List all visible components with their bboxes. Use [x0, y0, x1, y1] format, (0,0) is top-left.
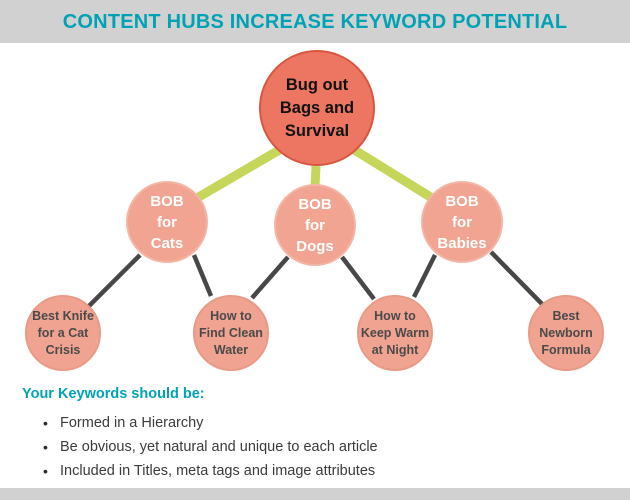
node-label-line: Cats	[151, 233, 184, 254]
notes-bullet-item: Be obvious, yet natural and unique to ea…	[60, 435, 378, 459]
node-label-line: Dogs	[296, 236, 334, 257]
node-root-root[interactable]: Bug outBags andSurvival	[259, 50, 375, 166]
node-article-how-to-keep-warm-at-night[interactable]: How toKeep Warmat Night	[357, 295, 433, 371]
connector-line-secondary	[89, 255, 140, 306]
notes-bullet-item: Formed in a Hierarchy	[60, 411, 378, 435]
node-hub-bob-cats[interactable]: BOBforCats	[126, 181, 208, 263]
connector-line-secondary	[252, 257, 288, 298]
node-label-line: for	[452, 212, 472, 233]
node-label-line: Newborn	[539, 325, 592, 342]
node-article-best-knife-cat-crisis[interactable]: Best Knifefor a CatCrisis	[25, 295, 101, 371]
notes-bullet-list: Formed in a HierarchyBe obvious, yet nat…	[34, 411, 378, 483]
node-label-line: Survival	[285, 120, 349, 143]
connector-line-secondary	[342, 257, 374, 299]
node-article-how-to-find-clean-water[interactable]: How toFind CleanWater	[193, 295, 269, 371]
connector-line-primary	[197, 149, 281, 198]
node-label-line: for a Cat	[38, 325, 89, 342]
node-label-line: Best	[552, 308, 579, 325]
node-label-line: Formula	[541, 342, 590, 359]
node-label-line: Babies	[437, 233, 486, 254]
node-label-line: Water	[214, 342, 248, 359]
node-label-line: BOB	[445, 191, 478, 212]
node-label-line: Bug out	[286, 74, 348, 97]
connector-line-secondary	[194, 255, 211, 296]
connector-line-primary	[353, 149, 432, 198]
node-label-line: Keep Warm	[361, 325, 429, 342]
node-label-line: Find Clean	[199, 325, 263, 342]
node-label-line: at Night	[372, 342, 419, 359]
node-label-line: Best Knife	[32, 308, 94, 325]
node-label-line: for	[305, 215, 325, 236]
node-article-best-newborn-formula[interactable]: BestNewbornFormula	[528, 295, 604, 371]
node-label-line: Bags and	[280, 97, 354, 120]
node-label-line: for	[157, 212, 177, 233]
page-title: CONTENT HUBS INCREASE KEYWORD POTENTIAL	[63, 12, 567, 32]
notes-heading: Your Keywords should be:	[22, 386, 205, 402]
node-label-line: Crisis	[46, 342, 81, 359]
footer-band	[0, 488, 630, 500]
notes-bullet-item: Included in Titles, meta tags and image …	[60, 459, 378, 483]
node-label-line: How to	[374, 308, 416, 325]
header-band: CONTENT HUBS INCREASE KEYWORD POTENTIAL	[0, 0, 630, 43]
node-label-line: BOB	[298, 194, 331, 215]
node-hub-bob-babies[interactable]: BOBforBabies	[421, 181, 503, 263]
node-label-line: How to	[210, 308, 252, 325]
slide-canvas: CONTENT HUBS INCREASE KEYWORD POTENTIAL …	[0, 0, 630, 500]
connector-line-primary	[315, 166, 316, 186]
node-hub-bob-dogs[interactable]: BOBforDogs	[274, 184, 356, 266]
connector-line-secondary	[414, 255, 435, 297]
connector-line-secondary	[491, 252, 542, 304]
node-label-line: BOB	[150, 191, 183, 212]
hierarchy-diagram: Bug outBags andSurvivalBOBforCatsBOBforD…	[0, 43, 630, 383]
